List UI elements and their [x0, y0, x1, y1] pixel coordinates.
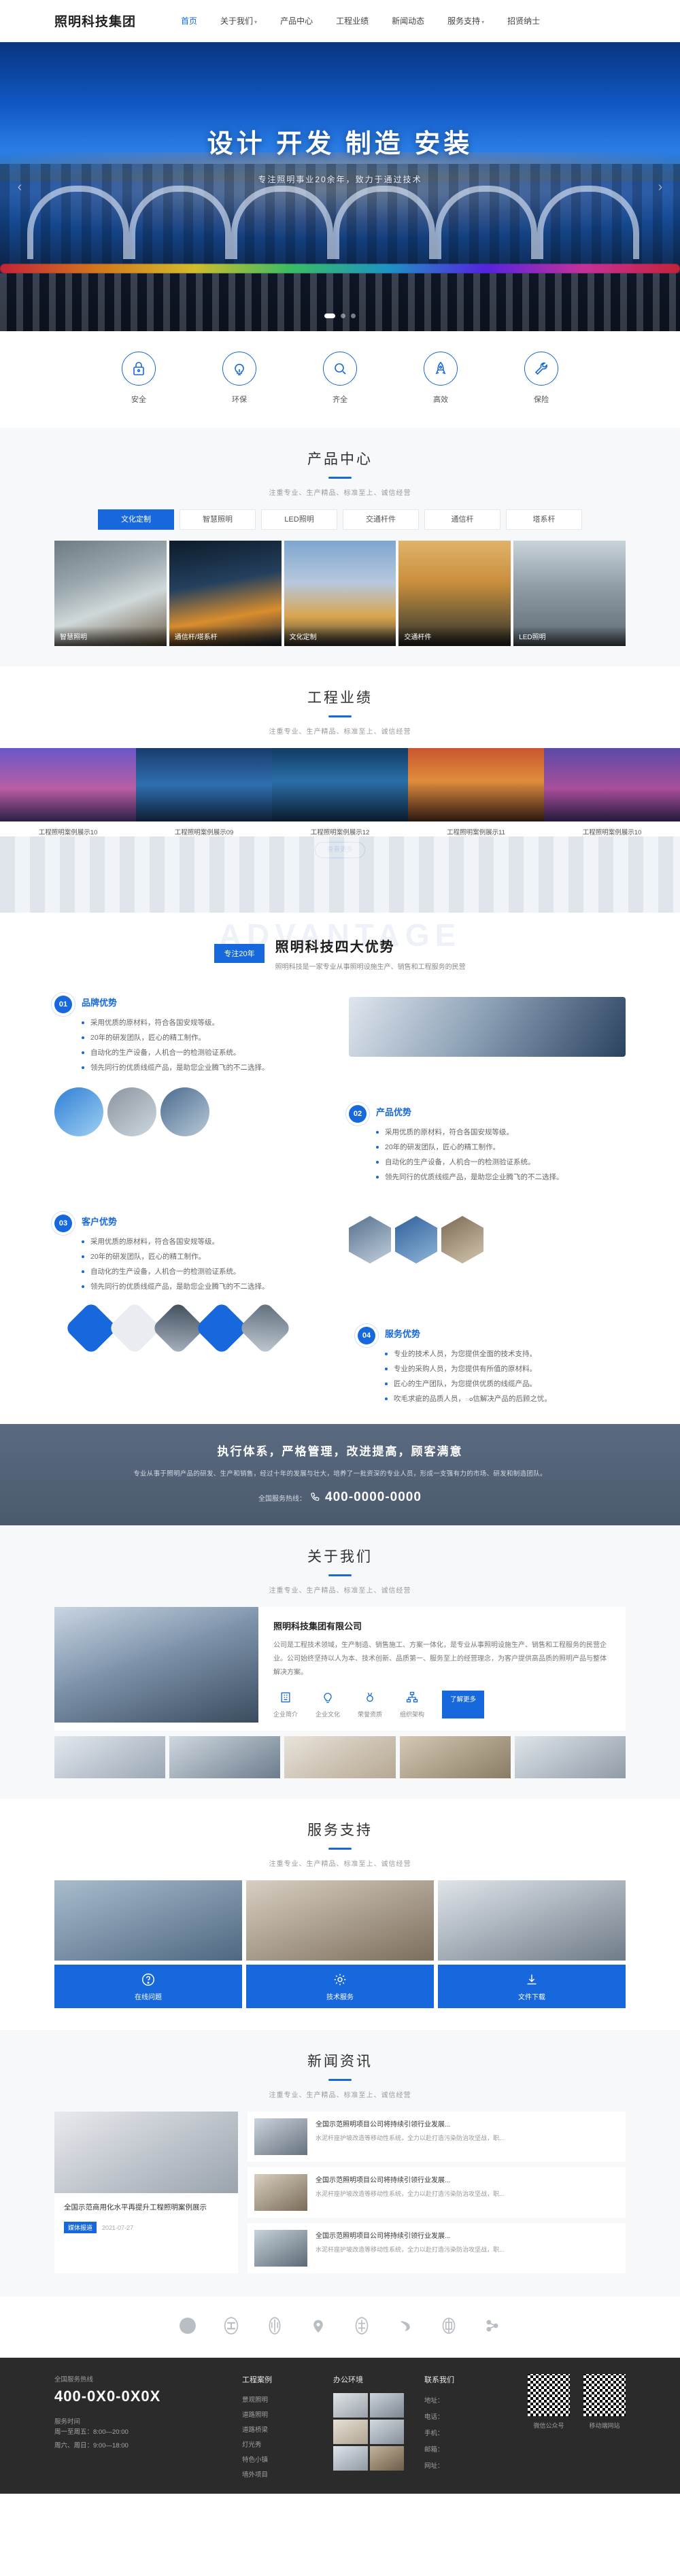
footer-contact-address: 地址：	[424, 2393, 498, 2409]
bullet: 20年的研发团队，匠心的精工制作。	[376, 1140, 564, 1155]
footer-hotline-number[interactable]: 400-0X0-0X0X	[54, 2388, 224, 2405]
hero-next-icon[interactable]: ›	[651, 178, 669, 196]
advantage-number: 03	[54, 1215, 72, 1232]
service-image	[54, 1880, 242, 1961]
news-item-desc: 水泥杆座护坡改造等移动性系统，全力以赴打造污染防治攻坚战，职...	[316, 2133, 505, 2143]
nav-item-careers[interactable]: 招贤纳士	[507, 15, 540, 27]
about-card: 照明科技集团有限公司 公司是工程技术领域，生产制造、销售施工、方案一体化，是专业…	[54, 1607, 626, 1731]
section-title: 关于我们	[0, 1546, 680, 1566]
news-feature-card[interactable]: 全国示范商用化水平再提升工程照明案例展示 媒体报道 2021-07-27	[54, 2112, 238, 2273]
section-divider	[328, 715, 352, 717]
bullet: 专业的采购人员，为您提供有所值的原材料。	[385, 1361, 551, 1376]
cta-phone-label: 全国服务热线：	[258, 1493, 306, 1503]
qr-wechat: 微信公众号	[528, 2374, 570, 2483]
about-thumbnail[interactable]	[400, 1736, 511, 1778]
hero-banner: 设计 开发 制造 安装 专注照明事业20余年，致力于通过技术 ‹ ›	[0, 42, 680, 331]
news-feature-image	[54, 2112, 238, 2193]
service-button-download[interactable]: 文件下载	[438, 1965, 626, 2008]
footer-office-image	[370, 2420, 405, 2444]
advantage-image-circles	[54, 1087, 331, 1136]
product-card[interactable]: 交通杆件	[398, 541, 511, 646]
footer-hours-weekday: 周一至周五：8:00—20:00	[54, 2426, 224, 2439]
about-link-honors[interactable]: 荣誉资质	[358, 1691, 382, 1718]
advantage-item-title: 品牌优势	[82, 996, 269, 1009]
section-title: 工程业绩	[0, 687, 680, 707]
feature-item-safety[interactable]: 安全	[109, 352, 168, 405]
tab-comm[interactable]: 通信杆	[424, 509, 500, 530]
advantage-number: 01	[54, 996, 72, 1013]
qr-code-image	[528, 2374, 570, 2416]
feature-label: 高效	[411, 394, 470, 405]
section-divider	[328, 477, 352, 479]
about-link-profile[interactable]: 企业简介	[273, 1691, 298, 1718]
partner-logo-5	[350, 2314, 373, 2337]
engineering-grid	[0, 748, 680, 821]
footer-hours-weekend: 周六、周日：9:00—18:00	[54, 2439, 224, 2453]
footer-contact-email: 邮箱：	[424, 2442, 498, 2458]
bullet: 领先同行的优质线缆产品，是助您企业腾飞的不二选择。	[82, 1279, 269, 1294]
news-item-title: 全国示范照明项目公司将持续引领行业发展...	[316, 2118, 505, 2129]
hero-title: 设计 开发 制造 安装	[0, 122, 680, 160]
advantage-badge: 专注20年	[214, 944, 264, 963]
footer-column-office: 办公环境	[333, 2374, 407, 2483]
news-item-title: 全国示范照明项目公司将持续引领行业发展...	[316, 2230, 505, 2240]
product-grid: 智慧照明 通信杆/塔系杆 文化定制 交通杆件 LED照明	[54, 541, 626, 646]
lightbulb-icon	[222, 352, 256, 386]
site-header: 照明科技集团 首页 关于我们▾ 产品中心 工程业绩 新闻动态 服务支持▾ 招贤纳…	[0, 0, 680, 42]
news-list-item[interactable]: 全国示范照明项目公司将持续引领行业发展... 水泥杆座护坡改造等移动性系统，全力…	[248, 2223, 626, 2273]
product-card[interactable]: 智慧照明	[54, 541, 167, 646]
download-icon	[524, 1972, 539, 1987]
hero-dots[interactable]	[0, 310, 680, 320]
footer-office-image	[370, 2393, 405, 2418]
footer-office-image	[333, 2393, 368, 2418]
product-section: 产品中心 注重专业、生产精品、标准至上、诚信经营 文化定制 智慧照明 LED照明…	[0, 428, 680, 666]
footer-contact-web: 网址：	[424, 2458, 498, 2475]
advantage-bullets: 采用优质的原材料，符合各国安规等级。 20年的研发团队，匠心的精工制作。 自动化…	[82, 1234, 269, 1294]
footer-office-images	[333, 2393, 404, 2471]
lightbulb-icon	[321, 1691, 335, 1704]
bullet: 专业的技术人员，为您提供全面的技术支持。	[385, 1346, 551, 1361]
product-caption: 文化定制	[284, 626, 396, 646]
feature-label: 安全	[109, 394, 168, 405]
partner-logo-3	[263, 2314, 286, 2337]
about-link-culture[interactable]: 企业文化	[316, 1691, 340, 1718]
bullet: 采用优质的原材料，符合各国安规等级。	[82, 1234, 269, 1249]
service-image	[246, 1880, 434, 1961]
section-subtitle: 注重专业、生产精品、标准至上、诚信经营	[0, 1858, 680, 1868]
advantage-subtitle: 照明科技是一家专业从事照明设施生产、销售和工程服务的民营	[275, 961, 466, 971]
section-divider	[328, 2079, 352, 2081]
footer-column-cases: 工程案例 景观照明 道路照明 道路桥梁 灯光秀 特色小镇 墙外项目	[242, 2374, 316, 2483]
partner-logo-1	[176, 2314, 199, 2337]
footer-hotline: 全国服务热线 400-0X0-0X0X 服务时间 周一至周五：8:00—20:0…	[54, 2374, 224, 2483]
engineering-card[interactable]	[136, 748, 272, 821]
feature-strip: 安全 环保 齐全 高效	[0, 331, 680, 428]
lock-icon	[122, 352, 156, 386]
bullet: 吹毛求疵的品质人员，ం信解决产品的后顾之忧。	[385, 1391, 551, 1406]
footer-link[interactable]: 道路照明	[242, 2408, 316, 2423]
feature-label: 齐全	[311, 394, 369, 405]
hero-prev-icon[interactable]: ‹	[11, 178, 29, 196]
news-feature-title: 全国示范商用化水平再提升工程照明案例展示	[64, 2201, 228, 2214]
advantage-number: 04	[358, 1327, 375, 1344]
search-icon	[323, 352, 357, 386]
advantage-bullets: 采用优质的原材料，符合各国安规等级。 20年的研发团队，匠心的精工制作。 自动化…	[376, 1125, 564, 1185]
main-navigation: 首页 关于我们▾ 产品中心 工程业绩 新闻动态 服务支持▾ 招贤纳士	[181, 15, 540, 27]
footer-column-title: 办公环境	[333, 2374, 407, 2385]
footer-column-title: 联系我们	[424, 2374, 498, 2385]
partner-logo-8	[481, 2314, 504, 2337]
footer-contact-phone: 电话：	[424, 2409, 498, 2426]
qr-label: 微信公众号	[528, 2421, 570, 2430]
cta-subtitle: 专业从事于照明产品的研发、生产和销售，经过十年的发展与壮大，培养了一批资深的专业…	[54, 1468, 626, 1478]
news-item-title: 全国示范照明项目公司将持续引领行业发展...	[316, 2174, 505, 2184]
section-subtitle: 注重专业、生产精品、标准至上、诚信经营	[0, 2089, 680, 2099]
product-caption: LED照明	[513, 626, 626, 646]
service-section: 服务支持 注重专业、生产精品、标准至上、诚信经营 在线问题 技术服务 文件下载	[0, 1799, 680, 2030]
about-section: 关于我们 注重专业、生产精品、标准至上、诚信经营 照明科技集团有限公司 公司是工…	[0, 1525, 680, 1799]
footer-link[interactable]: 道路桥梁	[242, 2423, 316, 2438]
product-caption: 交通杆件	[398, 626, 511, 646]
product-caption: 智慧照明	[54, 626, 167, 646]
service-buttons: 在线问题 技术服务 文件下载	[54, 1965, 626, 2008]
building-icon	[279, 1691, 292, 1704]
advantage-bullets: 采用优质的原材料，符合各国安规等级。 20年的研发团队，匠心的精工制作。 自动化…	[82, 1015, 269, 1075]
about-company-name: 照明科技集团有限公司	[273, 1619, 611, 1632]
about-thumbnail[interactable]	[284, 1736, 395, 1778]
footer-column-contact: 联系我们 地址： 电话： 手机： 邮箱： 网址：	[424, 2374, 498, 2483]
city-silhouette: 查看更多	[0, 836, 680, 913]
product-tabs: 文化定制 智慧照明 LED照明 交通杆件 通信杆 塔系杆	[54, 509, 626, 530]
hero-light-bridge	[0, 264, 680, 273]
engineering-card[interactable]	[272, 748, 408, 821]
advantage-bullets: 专业的技术人员，为您提供全面的技术支持。 专业的采购人员，为您提供有所值的原材料…	[385, 1346, 551, 1406]
tab-tower[interactable]: 塔系杆	[506, 509, 582, 530]
hero-arches	[0, 177, 680, 259]
footer-link[interactable]: 灯光秀	[242, 2438, 316, 2453]
bullet: 20年的研发团队，匠心的精工制作。	[82, 1030, 269, 1045]
hero-subtitle: 专注照明事业20余年，致力于通过技术	[0, 173, 680, 185]
about-thumbnail[interactable]	[169, 1736, 280, 1778]
news-item-desc: 水泥杆座护坡改造等移动性系统，全力以赴打造污染防治攻坚战，职...	[316, 2188, 505, 2199]
about-image	[54, 1607, 258, 1723]
engineering-caption: 工程照明案例展示10	[544, 827, 680, 836]
engineering-caption: 工程照明案例展示12	[272, 827, 408, 836]
tab-smart[interactable]: 智慧照明	[180, 509, 256, 530]
about-thumbnail[interactable]	[54, 1736, 165, 1778]
site-footer: 全国服务热线 400-0X0-0X0X 服务时间 周一至周五：8:00—20:0…	[0, 2358, 680, 2494]
feature-label: 保险	[512, 394, 571, 405]
nav-item-service[interactable]: 服务支持▾	[447, 15, 484, 27]
footer-link[interactable]: 特色小镇	[242, 2453, 316, 2468]
advantage-item-title: 产品优势	[376, 1105, 564, 1118]
nav-item-products[interactable]: 产品中心	[280, 15, 313, 27]
news-thumbnail	[254, 2230, 307, 2267]
news-list: 全国示范照明项目公司将持续引领行业发展... 水泥杆座护坡改造等移动性系统，全力…	[248, 2112, 626, 2273]
news-item-desc: 水泥杆座护坡改造等移动性系统，全力以赴打造污染防治攻坚战，职...	[316, 2244, 505, 2255]
tab-cultural[interactable]: 文化定制	[98, 509, 174, 530]
section-subtitle: 注重专业、生产精品、标准至上、诚信经营	[0, 1584, 680, 1595]
about-link-structure[interactable]: 组织架构	[400, 1691, 424, 1718]
about-more-button[interactable]: 了解更多	[442, 1691, 484, 1718]
news-section: 新闻资讯 注重专业、生产精品、标准至上、诚信经营 全国示范商用化水平再提升工程照…	[0, 2030, 680, 2297]
advantage-item-title: 客户优势	[82, 1215, 269, 1227]
engineering-card[interactable]	[544, 748, 680, 821]
engineering-section: 工程业绩 注重专业、生产精品、标准至上、诚信经营 工程照明案例展示10 工程照明…	[0, 666, 680, 913]
footer-qr-codes: 微信公众号 移动端网站	[528, 2374, 626, 2483]
news-thumbnail	[254, 2118, 307, 2155]
cta-band: 执行体系，严格管理，改进提高，顾客满意 专业从事于照明产品的研发、生产和销售，经…	[0, 1424, 680, 1525]
section-divider	[328, 1848, 352, 1850]
footer-link[interactable]: 墙外项目	[242, 2468, 316, 2483]
nav-item-news[interactable]: 新闻动态	[392, 15, 424, 27]
footer-office-image	[333, 2420, 368, 2444]
bullet: 自动化的生产设备，人机合一的检测验证系统。	[376, 1155, 564, 1170]
section-divider	[328, 1574, 352, 1576]
news-list-item[interactable]: 全国示范照明项目公司将持续引领行业发展... 水泥杆座护坡改造等移动性系统，全力…	[248, 2167, 626, 2218]
advantage-item-01: 01 品牌优势 采用优质的原材料，符合各国安规等级。 20年的研发团队，匠心的精…	[54, 996, 331, 1075]
product-card[interactable]: 通信杆/塔系杆	[169, 541, 282, 646]
engineering-caption: 工程照明案例展示10	[0, 827, 136, 836]
bullet: 匠心的生产团队，为您提供优质的线缆产品。	[385, 1376, 551, 1391]
advantage-image-quality	[349, 997, 626, 1057]
feature-label: 环保	[210, 394, 269, 405]
phone-icon	[310, 1491, 321, 1504]
qr-code-image	[583, 2374, 626, 2416]
bullet: 领先同行的优质线缆产品，是助您企业腾飞的不二选择。	[376, 1170, 564, 1185]
news-date: 2021-07-27	[102, 2224, 133, 2231]
engineering-card[interactable]	[0, 748, 136, 821]
advantage-section: ADVANTAGE 专注20年 照明科技四大优势 照明科技是一家专业从事照明设施…	[0, 913, 680, 1424]
feature-item-eco[interactable]: 环保	[210, 352, 269, 405]
partner-logo-6	[394, 2314, 417, 2337]
feature-item-insurance[interactable]: 保险	[512, 352, 571, 405]
qr-label: 移动端网站	[583, 2421, 626, 2430]
site-logo[interactable]: 照明科技集团	[54, 12, 136, 30]
footer-office-image	[370, 2446, 405, 2471]
bullet: 自动化的生产设备，人机合一的检测验证系统。	[82, 1264, 269, 1279]
service-button-question[interactable]: 在线问题	[54, 1965, 242, 2008]
product-caption: 通信杆/塔系杆	[169, 626, 282, 646]
service-images	[54, 1880, 626, 1961]
partner-logo-7	[437, 2314, 460, 2337]
advantage-item-04: 04 服务优势 专业的技术人员，为您提供全面的技术支持。 专业的采购人员，为您提…	[358, 1327, 626, 1406]
bullet: 自动化的生产设备，人机合一的检测验证系统。	[82, 1045, 269, 1060]
hero-parking	[0, 273, 680, 331]
bullet: 领先同行的优质线缆产品，是助您企业腾飞的不二选择。	[82, 1060, 269, 1075]
section-subtitle: 注重专业、生产精品、标准至上、诚信经营	[0, 726, 680, 736]
advantage-title: 照明科技四大优势	[275, 936, 466, 955]
qr-mobile: 移动端网站	[583, 2374, 626, 2483]
section-title: 服务支持	[0, 1819, 680, 1840]
cta-phone-number[interactable]: 400-0000-0000	[325, 1490, 422, 1505]
partner-logo-2	[220, 2314, 243, 2337]
partner-logo-4	[307, 2314, 330, 2337]
sitemap-icon	[405, 1691, 419, 1704]
advantage-item-title: 服务优势	[385, 1327, 551, 1340]
chevron-down-icon: ▾	[481, 19, 484, 25]
about-description: 公司是工程技术领域，生产制造、销售施工、方案一体化，是专业从事照明设施生产、销售…	[273, 1639, 611, 1680]
footer-hours-label: 服务时间	[54, 2416, 224, 2426]
section-title: 新闻资讯	[0, 2050, 680, 2071]
bullet: 20年的研发团队，匠心的精工制作。	[82, 1249, 269, 1264]
news-thumbnail	[254, 2174, 307, 2211]
footer-office-image	[333, 2446, 368, 2471]
medal-icon	[363, 1691, 377, 1704]
feature-item-efficient[interactable]: 高效	[411, 352, 470, 405]
section-title: 产品中心	[0, 448, 680, 469]
about-thumbnail[interactable]	[515, 1736, 626, 1778]
question-icon	[141, 1972, 156, 1987]
partner-logos	[0, 2297, 680, 2358]
tab-led[interactable]: LED照明	[261, 509, 337, 530]
engineering-captions: 工程照明案例展示10 工程照明案例展示09 工程照明案例展示12 工程照明案例展…	[0, 821, 680, 836]
engineering-caption: 工程照明案例展示11	[408, 827, 544, 836]
bullet: 采用优质的原材料，符合各国安规等级。	[376, 1125, 564, 1140]
advantage-item-03: 03 客户优势 采用优质的原材料，符合各国安规等级。 20年的研发团队，匠心的精…	[54, 1215, 331, 1294]
service-button-technical[interactable]: 技术服务	[246, 1965, 434, 2008]
tab-traffic[interactable]: 交通杆件	[343, 509, 419, 530]
service-image	[438, 1880, 626, 1961]
cta-title: 执行体系，严格管理，改进提高，顾客满意	[54, 1442, 626, 1459]
engineering-caption: 工程照明案例展示09	[136, 827, 272, 836]
footer-link[interactable]: 景观照明	[242, 2393, 316, 2408]
chevron-down-icon: ▾	[254, 19, 257, 25]
engineering-card[interactable]	[408, 748, 544, 821]
nav-item-about[interactable]: 关于我们▾	[220, 15, 257, 27]
footer-hotline-label: 全国服务热线	[54, 2374, 224, 2384]
nav-item-engineering[interactable]: 工程业绩	[336, 15, 369, 27]
product-card[interactable]: 文化定制	[284, 541, 396, 646]
advantage-image-hexes	[349, 1216, 626, 1264]
nav-item-home[interactable]: 首页	[181, 15, 197, 27]
advantage-item-02: 02 产品优势 采用优质的原材料，符合各国安规等级。 20年的研发团队，匠心的精…	[349, 1105, 626, 1185]
product-card[interactable]: LED照明	[513, 541, 626, 646]
bullet: 采用优质的原材料，符合各国安规等级。	[82, 1015, 269, 1030]
wrench-icon	[524, 352, 558, 386]
news-list-item[interactable]: 全国示范照明项目公司将持续引领行业发展... 水泥杆座护坡改造等移动性系统，全力…	[248, 2112, 626, 2162]
gear-icon	[333, 1972, 347, 1987]
advantage-image-diamonds	[54, 1309, 340, 1347]
advantage-number: 02	[349, 1105, 367, 1123]
about-thumbnails	[54, 1736, 626, 1778]
rocket-icon	[424, 352, 458, 386]
footer-contact-mobile: 手机：	[424, 2426, 498, 2442]
footer-column-title: 工程案例	[242, 2374, 316, 2385]
section-subtitle: 注重专业、生产精品、标准至上、诚信经营	[0, 487, 680, 497]
news-tag: 媒体报道	[64, 2222, 97, 2233]
feature-item-complete[interactable]: 齐全	[311, 352, 369, 405]
